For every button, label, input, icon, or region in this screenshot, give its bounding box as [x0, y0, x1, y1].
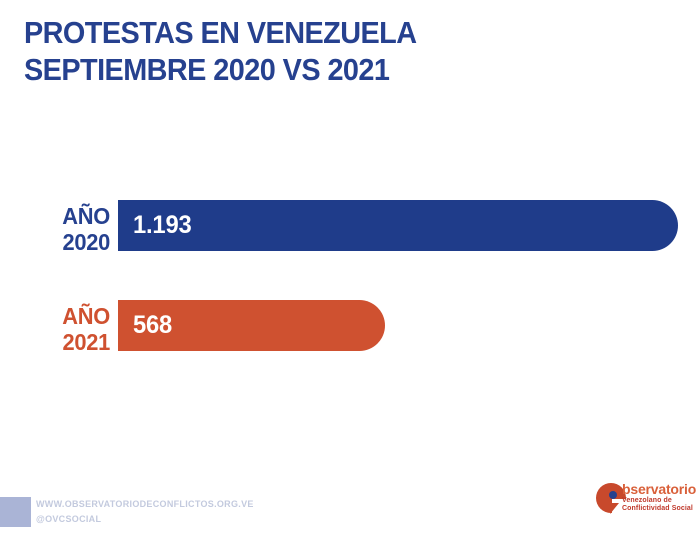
bar-value-2021: 568 [133, 313, 172, 338]
logo-subtitle-line-2: Conflictividad Social [622, 505, 696, 513]
footer-credits: WWW.OBSERVATORIODECONFLICTOS.ORG.VE @OVC… [36, 497, 254, 527]
logo-subtitle-line-1: Venezolano de [622, 497, 696, 505]
bar-category-label-line-2: 2021 [6, 329, 111, 355]
page-title-line-2: SEPTIEMBRE 2020 VS 2021 [24, 51, 619, 88]
bar-fill-2021: 568 [118, 300, 385, 351]
ovcs-logo: bservatorio Venezolano de Conflictividad… [596, 481, 696, 525]
bar-value-2020: 1.193 [133, 213, 191, 238]
bar-category-label-line-1: AÑO [6, 303, 111, 329]
footer-website: WWW.OBSERVATORIODECONFLICTOS.ORG.VE [36, 497, 254, 512]
bar-track-2021: 568 [118, 300, 385, 351]
bar-chart: AÑO 2020 1.193 AÑO 2021 568 [0, 190, 700, 380]
bar-track-2020: 1.193 [118, 200, 678, 251]
bar-category-label-line-2: 2020 [6, 229, 111, 255]
page-title-line-1: PROTESTAS EN VENEZUELA [24, 14, 619, 51]
page-title: PROTESTAS EN VENEZUELA SEPTIEMBRE 2020 V… [24, 14, 664, 88]
bar-fill-2020: 1.193 [118, 200, 678, 251]
logo-dot-shape [609, 491, 617, 499]
logo-name: bservatorio [622, 481, 696, 497]
bar-category-label-2021: AÑO 2021 [6, 303, 111, 355]
logo-wordmark: bservatorio Venezolano de Conflictividad… [622, 481, 696, 513]
footer-social-handle: @OVCSOCIAL [36, 512, 254, 527]
footer-color-swatch [0, 497, 31, 527]
logo-tail-shape [610, 503, 619, 514]
bar-category-label-line-1: AÑO [6, 203, 111, 229]
bar-category-label-2020: AÑO 2020 [6, 203, 111, 255]
